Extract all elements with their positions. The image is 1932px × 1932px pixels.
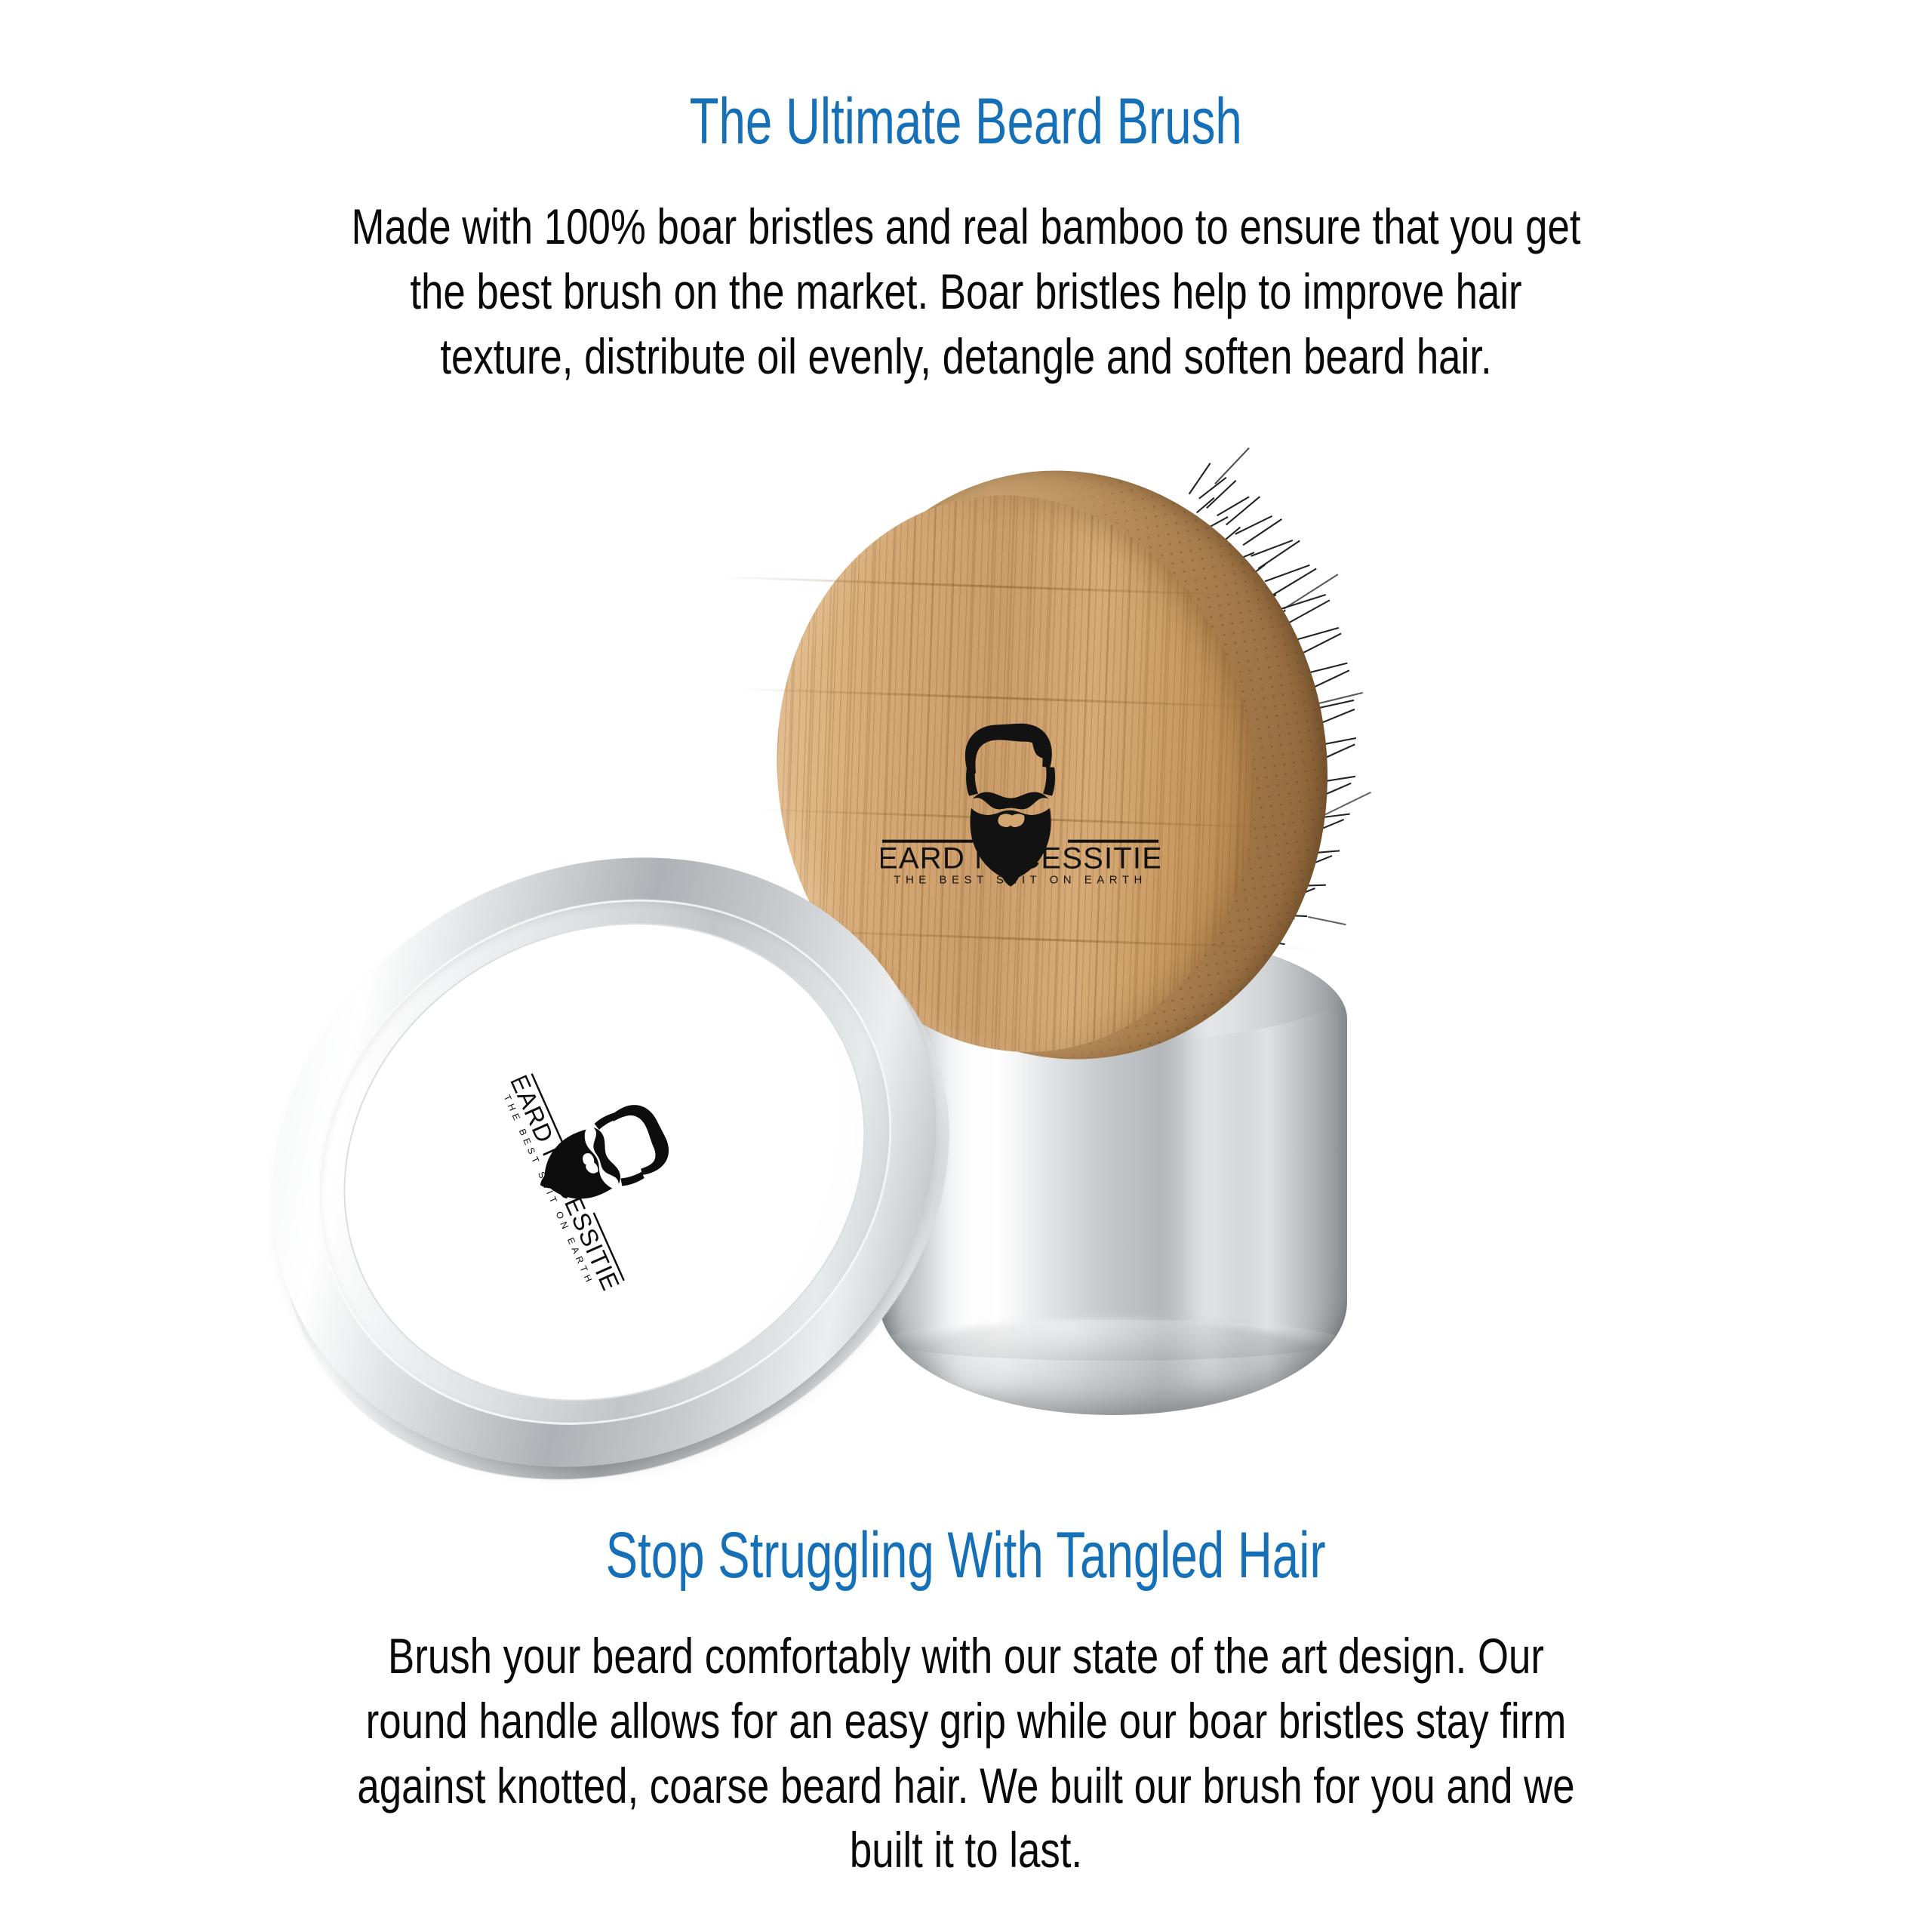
bamboo-node-line — [736, 688, 1279, 709]
brand-logo-on-lid: BEARD NECESSITIES THE BEST SHIT ON EARTH — [457, 1015, 754, 1315]
page-title-top-text: The Ultimate Beard Brush — [690, 89, 1242, 154]
description-top: Made with 100% boar bristles and real ba… — [185, 195, 1747, 389]
beard-necessities-logo-icon: BEARD NECESSITIES THE BEST SHIT ON EARTH — [881, 721, 1160, 887]
description-bottom: Brush your beard comfortably with our st… — [185, 1624, 1747, 1883]
logo-brand-name: BEARD NECESSITIES — [881, 842, 1160, 875]
page-title-bottom-text: Stop Struggling With Tangled Hair — [606, 1523, 1326, 1588]
logo-tagline: THE BEST SHIT ON EARTH — [894, 874, 1147, 887]
brand-logo-on-brush: BEARD NECESSITIES THE BEST SHIT ON EARTH — [881, 721, 1160, 887]
product-image: BEARD NECESSITIES THE BEST SHIT ON EARTH — [0, 423, 1932, 1524]
description-top-text: Made with 100% boar bristles and real ba… — [341, 195, 1591, 389]
beard-necessities-logo-icon: BEARD NECESSITIES THE BEST SHIT ON EARTH — [457, 1015, 754, 1315]
description-bottom-text: Brush your beard comfortably with our st… — [341, 1624, 1591, 1883]
page-title-top: The Ultimate Beard Brush — [0, 89, 1932, 154]
page-title-bottom: Stop Struggling With Tangled Hair — [0, 1523, 1932, 1588]
logo-brand-name: BEARD NECESSITIES — [498, 1054, 632, 1311]
promo-page: The Ultimate Beard Brush Made with 100% … — [0, 0, 1932, 1932]
